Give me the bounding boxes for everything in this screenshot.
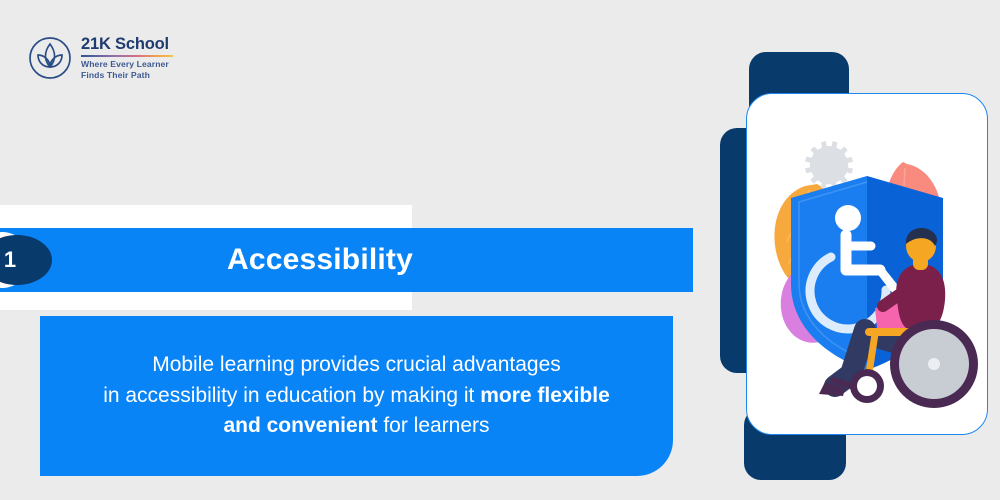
step-badge-number: 1 xyxy=(4,247,16,273)
body-line-3-bold: and convenient xyxy=(223,414,377,437)
body-line-1: Mobile learning provides crucial advanta… xyxy=(152,353,561,376)
body-copy: Mobile learning provides crucial advanta… xyxy=(81,350,632,441)
page-title: Accessibility xyxy=(0,228,640,292)
brand-tagline-line-2: Finds Their Path xyxy=(81,70,173,81)
slide-canvas: 21K School Where Every Learner Finds The… xyxy=(0,0,1000,500)
brand-name: 21K School xyxy=(81,35,173,53)
body-text-panel: Mobile learning provides crucial advanta… xyxy=(40,316,673,476)
brand-tagline-line-1: Where Every Learner xyxy=(81,59,173,70)
illustration-group xyxy=(700,40,1000,480)
brand-text-block: 21K School Where Every Learner Finds The… xyxy=(81,35,173,81)
lotus-circle-logo-icon xyxy=(28,36,72,80)
body-line-2-normal: in accessibility in education by making … xyxy=(103,384,480,407)
step-number-badge: 1 xyxy=(0,232,58,288)
illustration-card xyxy=(746,93,988,435)
accessibility-shield-wheelchair-illustration xyxy=(747,94,987,434)
brand-logo: 21K School Where Every Learner Finds The… xyxy=(28,30,248,86)
brand-gradient-rule xyxy=(81,55,173,58)
body-line-3-normal: for learners xyxy=(377,414,489,437)
body-line-2-bold: more flexible xyxy=(480,384,610,407)
step-badge-disc: 1 xyxy=(0,235,52,285)
